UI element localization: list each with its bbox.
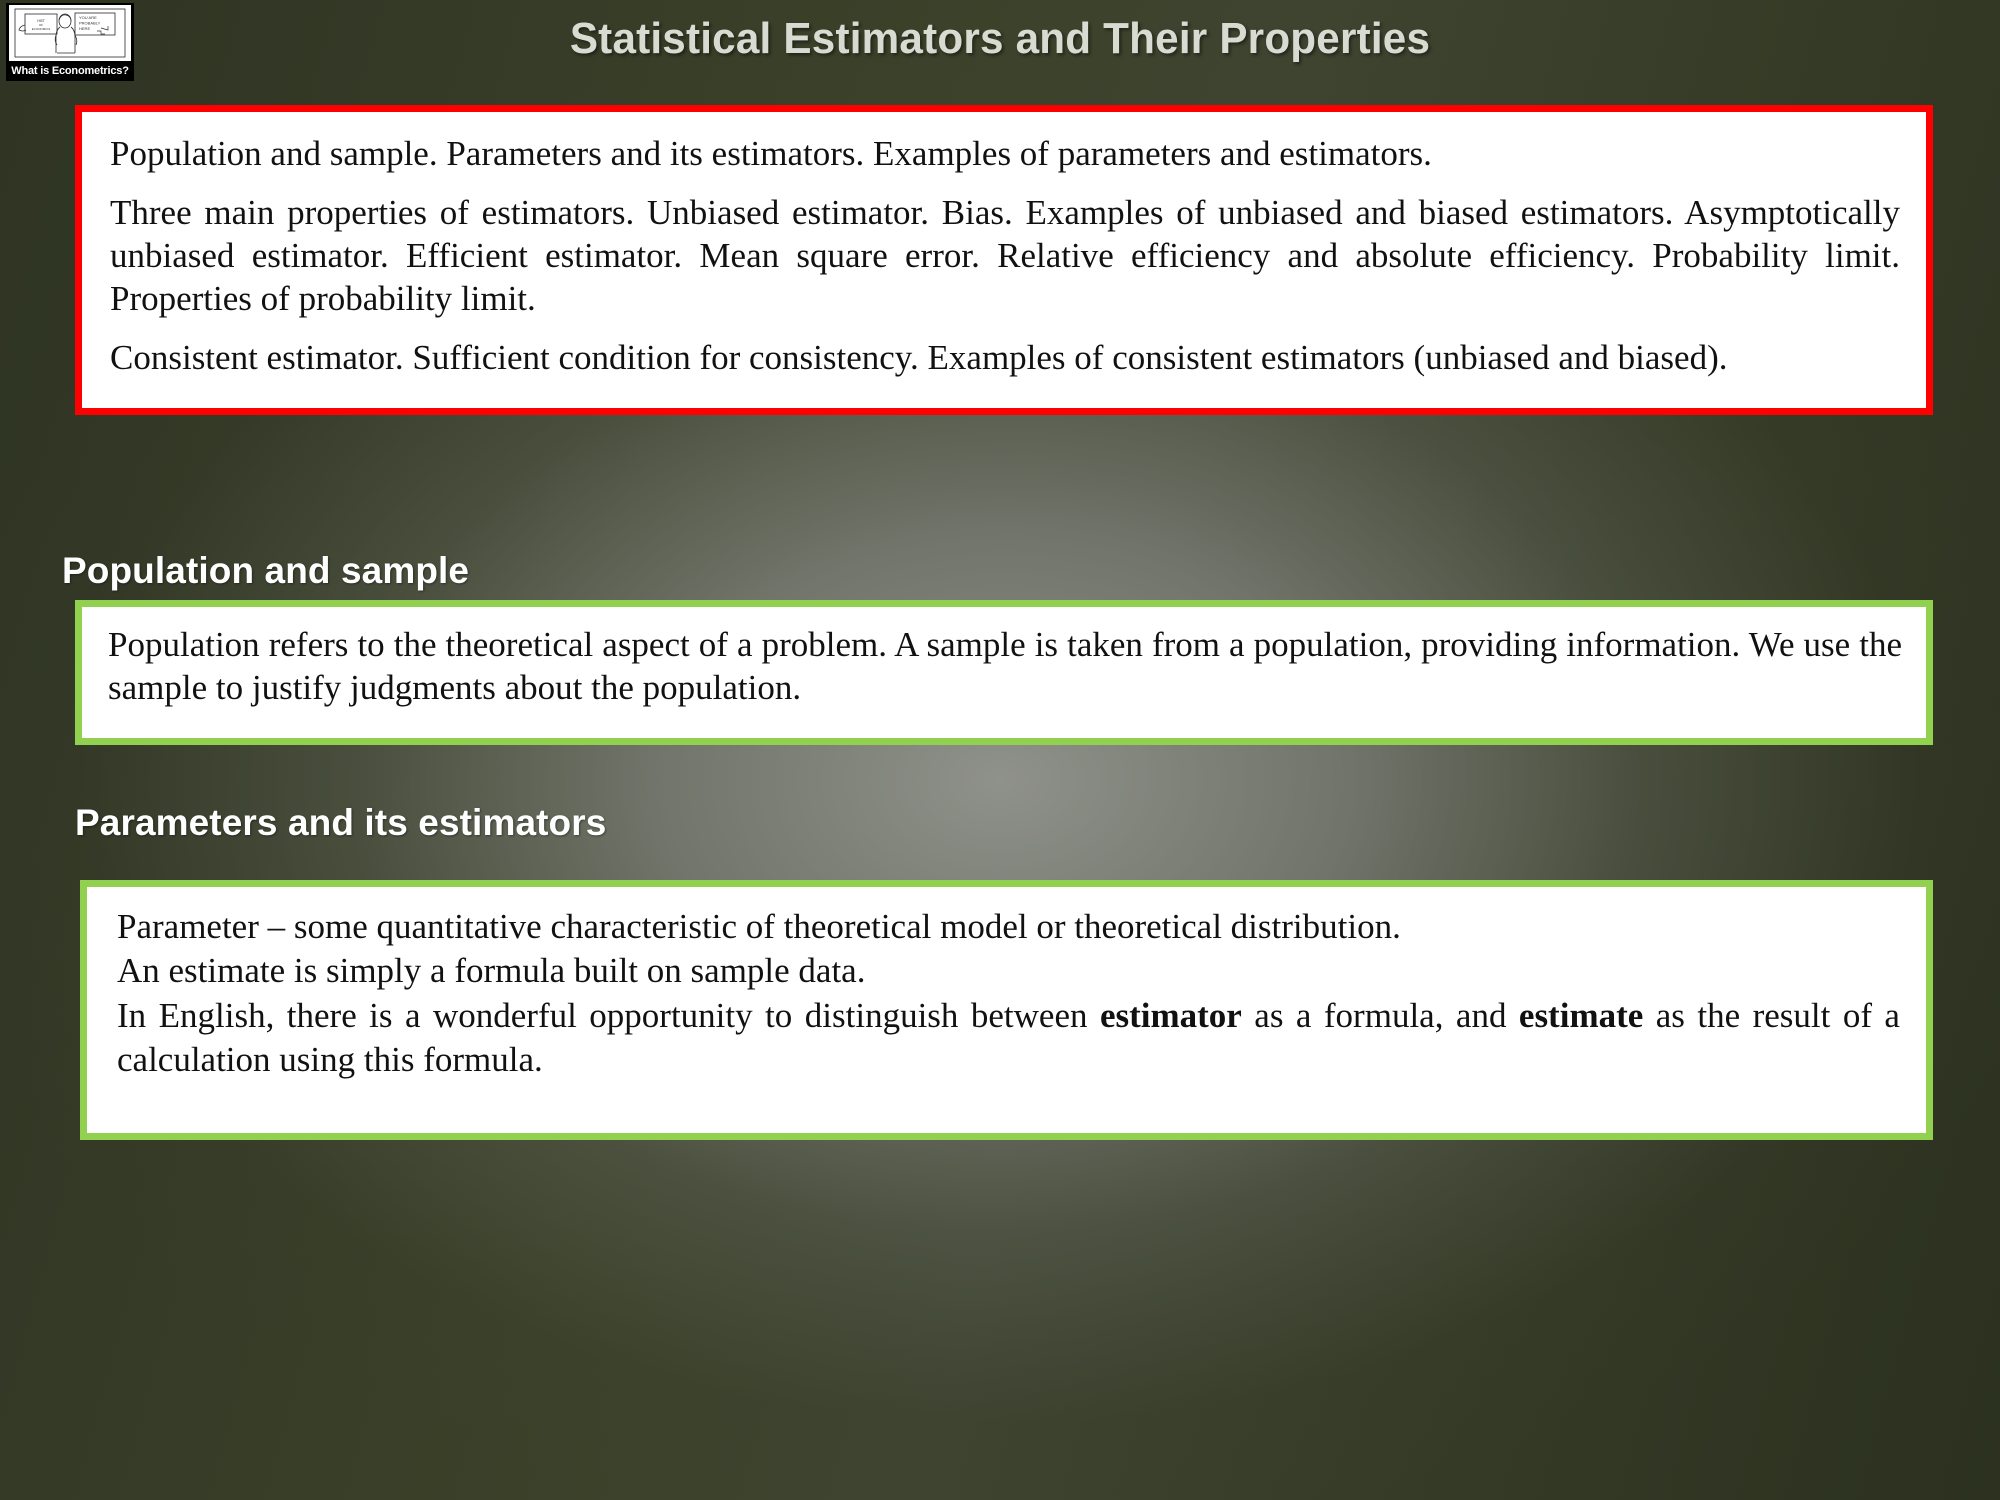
parameters-and-estimators-border: Parameter – some quantitative characteri…: [80, 880, 1933, 1140]
estimator-vs-estimate-line: In English, there is a wonderful opportu…: [117, 994, 1900, 1083]
lecture-outline-box: Population and sample. Parameters and it…: [75, 105, 1933, 415]
population-and-sample-border: Population refers to the theoretical asp…: [75, 600, 1933, 745]
outline-paragraph-2: Three main properties of estimators. Unb…: [110, 191, 1900, 320]
svg-text:YOU ARE: YOU ARE: [79, 15, 97, 20]
lecture-outline-border: Population and sample. Parameters and it…: [75, 105, 1933, 415]
svg-text:ECONOMICS: ECONOMICS: [32, 27, 51, 31]
estimate-definition-line: An estimate is simply a formula built on…: [117, 949, 1900, 993]
estimator-text-c: as a formula, and: [1242, 996, 1519, 1035]
estimator-text-a: In English, there is a wonderful opportu…: [117, 996, 1100, 1035]
population-and-sample-paragraph: Population refers to the theoretical asp…: [108, 623, 1902, 709]
cartoon-illustration: HIST OF ECONOMICS YOU ARE PROBABLY HERE: [9, 5, 131, 61]
parameters-and-estimators-box: Parameter – some quantitative characteri…: [80, 880, 1933, 1140]
thumbnail-caption: What is Econometrics?: [9, 61, 131, 81]
estimate-bold-word: estimate: [1519, 996, 1643, 1035]
population-and-sample-box: Population refers to the theoretical asp…: [75, 600, 1933, 745]
outline-paragraph-3: Consistent estimator. Sufficient conditi…: [110, 336, 1900, 379]
page-title: Statistical Estimators and Their Propert…: [184, 14, 1816, 64]
section-heading-population-and-sample: Population and sample: [62, 550, 469, 592]
estimator-bold-word: estimator: [1100, 996, 1242, 1035]
svg-text:HERE: HERE: [79, 26, 90, 31]
cartoon-icon: HIST OF ECONOMICS YOU ARE PROBABLY HERE: [9, 5, 131, 61]
parameter-definition-line: Parameter – some quantitative characteri…: [117, 905, 1900, 949]
slide-canvas: HIST OF ECONOMICS YOU ARE PROBABLY HERE …: [0, 0, 2000, 1500]
svg-text:PROBABLY: PROBABLY: [79, 21, 101, 26]
section-heading-parameters-and-estimators: Parameters and its estimators: [75, 802, 606, 844]
outline-paragraph-1: Population and sample. Parameters and it…: [110, 132, 1900, 175]
econometrics-thumbnail: HIST OF ECONOMICS YOU ARE PROBABLY HERE …: [6, 3, 134, 81]
